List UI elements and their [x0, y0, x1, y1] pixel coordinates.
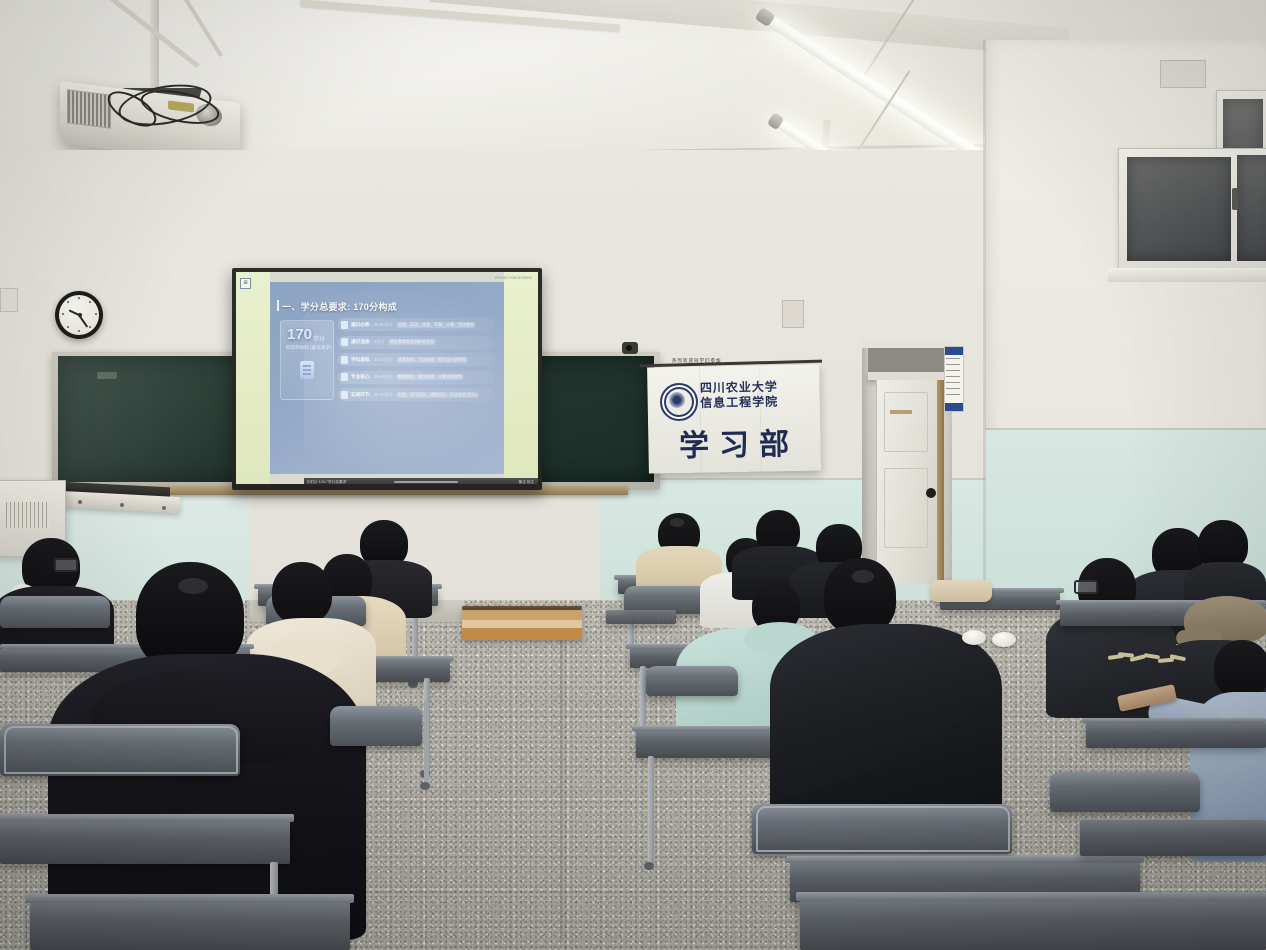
door-knob[interactable]: [926, 488, 936, 498]
chair: [330, 706, 422, 746]
small-wall-speaker: [782, 300, 804, 328]
desk-edge: [796, 892, 1266, 901]
banner-organization: 四川农业大学 信息工程学院: [700, 379, 821, 411]
head: [272, 562, 332, 624]
slide-title-accent: [277, 300, 279, 311]
wall-corner: [983, 40, 986, 640]
screen-blank-area: [236, 272, 270, 484]
desk-leg: [648, 756, 654, 866]
screen-control-button[interactable]: ⊞: [240, 278, 251, 289]
desk: [30, 900, 350, 950]
paper-cups: [962, 630, 1024, 650]
wooden-platform-step: [462, 606, 582, 640]
chair: [646, 666, 738, 696]
door-jamb: [936, 380, 944, 584]
slide-counter: 幻灯片 1/24 "学分总要求": [307, 480, 347, 485]
classroom-scene: 一、学分总要求: 170分构成 170 学分 四年制本科 (最低要求) 通识必修…: [0, 0, 1266, 950]
alcove-header: [862, 338, 952, 348]
wall-notice: [944, 346, 964, 412]
desk-foot: [644, 862, 654, 870]
alcove-recess: [868, 348, 948, 374]
projected-slide: 一、学分总要求: 170分构成 170 学分 四年制本科 (最低要求) 通识必修…: [270, 282, 504, 474]
chair-frame: [4, 726, 238, 774]
scrollbar[interactable]: [394, 481, 458, 483]
cup: [992, 632, 1016, 647]
desk: [1080, 820, 1266, 856]
window-sill: [1108, 268, 1266, 282]
banner-org-line-2: 信息工程学院: [700, 394, 820, 411]
clock-center-pin: [78, 313, 82, 317]
door-panel: [884, 392, 928, 452]
window-handle[interactable]: [1232, 188, 1238, 210]
chalk-mark: [97, 372, 117, 379]
alcove-shelf: [868, 372, 948, 380]
chair: [0, 596, 110, 628]
torso: [770, 624, 1002, 824]
projection-glare: [304, 292, 538, 484]
powerpoint-taskbar[interactable]: 幻灯片 1/24 "学分总要求" 备注 批注: [304, 478, 538, 484]
screen-brand-label: PROJECTION SCREEN: [495, 276, 532, 280]
desk-edge: [0, 814, 294, 822]
banner-department-name: 学习部: [660, 419, 819, 466]
door-panel: [884, 468, 928, 548]
desk-edge: [26, 894, 354, 903]
projection-screen[interactable]: 一、学分总要求: 170分构成 170 学分 四年制本科 (最低要求) 通识必修…: [236, 272, 538, 484]
dried-flowers: [1108, 648, 1204, 678]
taskbar-actions[interactable]: 备注 批注: [519, 480, 534, 485]
chair-frame: [756, 806, 1010, 852]
projector-vent: [67, 89, 111, 128]
camera-lens-icon: [626, 345, 632, 351]
projector-mount-pole: [150, 0, 159, 92]
desk: [606, 610, 676, 624]
chair: [1050, 772, 1200, 812]
glasses-icon: [1074, 580, 1098, 594]
light-switch-plate[interactable]: [0, 288, 18, 312]
glasses-icon: [54, 558, 78, 572]
desk: [800, 898, 1266, 950]
wainscot-trim: [985, 428, 1266, 430]
chair-frame: [424, 700, 429, 786]
desk-edge: [786, 856, 1144, 863]
window-pane: [1237, 155, 1266, 261]
desk: [1086, 722, 1266, 748]
banner-top-text: 热烈欢迎同学们参加: [672, 358, 722, 364]
window-pane: [1127, 157, 1231, 261]
door-plate: [890, 410, 912, 414]
desk-foot: [420, 782, 430, 790]
folded-cloth: [930, 580, 992, 602]
speaker-grill-icon: [6, 502, 50, 528]
window-large[interactable]: [1118, 148, 1266, 272]
wall-vent-box: [1160, 60, 1206, 88]
desk-edge: [1082, 718, 1266, 723]
cup: [962, 630, 986, 645]
head: [1214, 640, 1266, 698]
desk: [0, 820, 290, 864]
